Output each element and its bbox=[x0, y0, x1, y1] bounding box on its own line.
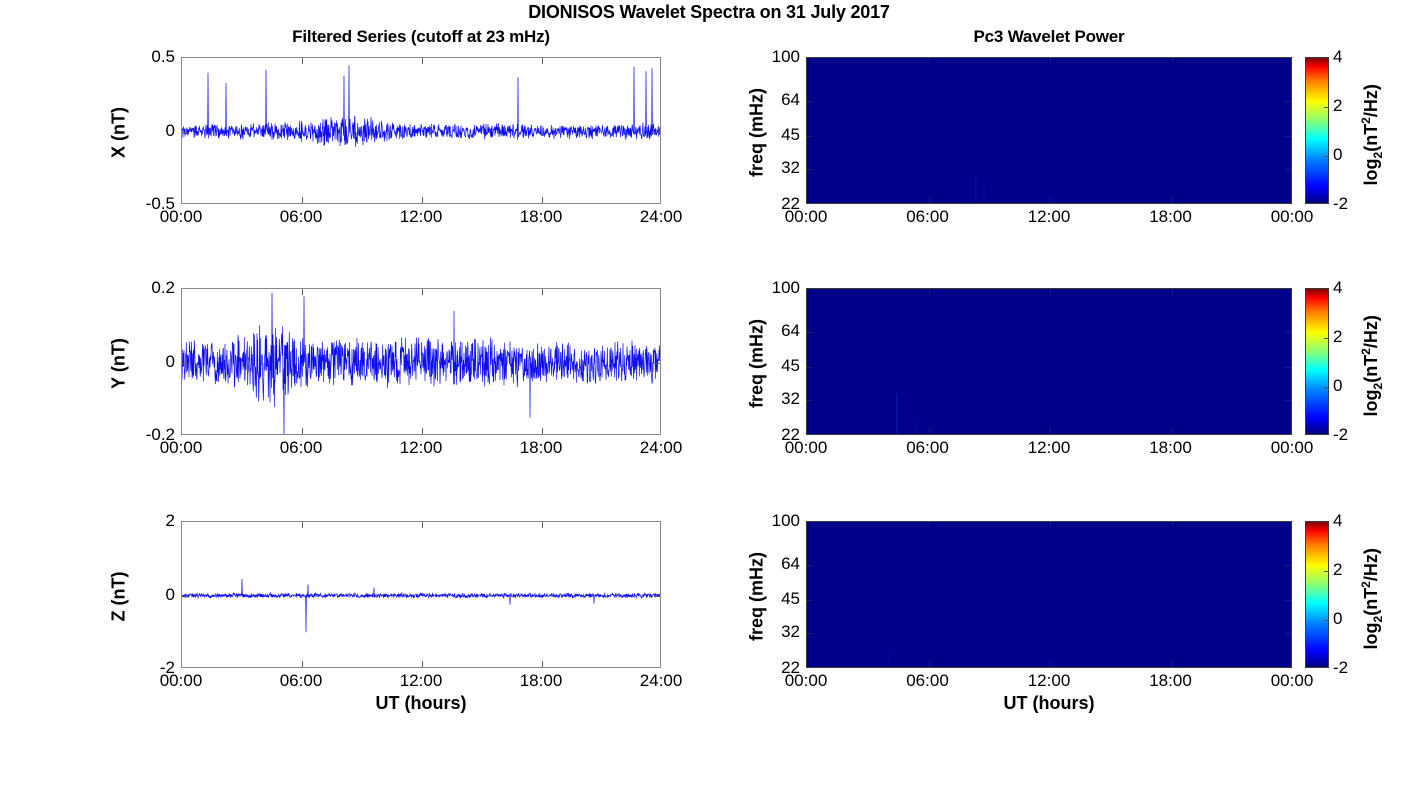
spectrogram-y-ytick-label: 32 bbox=[722, 389, 800, 409]
colorbar-x-label: log2(nT2/Hz) bbox=[1359, 60, 1385, 210]
timeseries-z-trace bbox=[182, 522, 661, 668]
spectrogram-x-image bbox=[807, 58, 1292, 204]
spectrogram-x-ytick bbox=[1285, 101, 1291, 102]
colorbar-label-text: log2(nT2/Hz) bbox=[1361, 84, 1381, 185]
timeseries-x-trace bbox=[182, 58, 661, 204]
spectrogram-x-xtick bbox=[1172, 58, 1173, 64]
colorbar-tick-label: 4 bbox=[1333, 47, 1342, 67]
spectrogram-y-ytick bbox=[807, 367, 813, 368]
timeseries-y-xtick bbox=[422, 289, 423, 295]
timeseries-z-xtick-label: 18:00 bbox=[520, 671, 563, 691]
timeseries-y-trace bbox=[182, 289, 661, 435]
spectrogram-z-ytick-label: 64 bbox=[722, 554, 800, 574]
timeseries-y-xtick-label: 18:00 bbox=[520, 438, 563, 458]
spectrogram-y-xtick-label: 18:00 bbox=[1149, 438, 1192, 458]
spectrogram-x-xtick-label: 06:00 bbox=[906, 207, 949, 227]
colorbar-z-label: log2(nT2/Hz) bbox=[1359, 524, 1385, 674]
spectrogram-x-ytick-label: 45 bbox=[722, 125, 800, 145]
timeseries-y-xtick bbox=[542, 428, 543, 434]
spectrogram-y-xtick-label: 00:00 bbox=[1271, 438, 1314, 458]
colorbar-tick-label: -2 bbox=[1333, 658, 1348, 678]
timeseries-x-ytick-label: -0.5 bbox=[97, 194, 175, 214]
spectrogram-y-ytick bbox=[807, 332, 813, 333]
spectrogram-z-xtick bbox=[1172, 661, 1173, 667]
timeseries-y-xtick bbox=[422, 428, 423, 434]
spectrogram-x-xtick bbox=[1050, 197, 1051, 203]
spectrogram-y-xtick-label: 06:00 bbox=[906, 438, 949, 458]
spectrogram-z-xtick bbox=[929, 522, 930, 528]
spectrogram-z-ytick bbox=[1285, 633, 1291, 634]
spectrogram-z-ytick bbox=[807, 565, 813, 566]
timeseries-x-panel bbox=[181, 57, 661, 204]
spectrogram-y-xtick bbox=[1050, 428, 1051, 434]
timeseries-z-xtick bbox=[302, 661, 303, 667]
colorbar-y bbox=[1305, 288, 1329, 435]
timeseries-z-xtick-label: 24:00 bbox=[640, 671, 683, 691]
spectrogram-x-xtick-label: 00:00 bbox=[1271, 207, 1314, 227]
spectrogram-z-image bbox=[807, 522, 1292, 668]
timeseries-x-ytick bbox=[654, 132, 660, 133]
timeseries-y-ytick-label: 0.2 bbox=[97, 278, 175, 298]
spectrogram-z-ytick bbox=[807, 633, 813, 634]
spectrogram-x-ytick-label: 64 bbox=[722, 90, 800, 110]
timeseries-z-xtick-label: 06:00 bbox=[280, 671, 323, 691]
timeseries-y-panel bbox=[181, 288, 661, 435]
colorbar-label-text: log2(nT2/Hz) bbox=[1361, 315, 1381, 416]
colorbar-tick-label: 0 bbox=[1333, 145, 1342, 165]
spectrogram-x-ytick bbox=[807, 136, 813, 137]
timeseries-z-xtick bbox=[542, 661, 543, 667]
timeseries-z-ytick-label: 0 bbox=[97, 585, 175, 605]
spectrogram-x-xtick bbox=[1172, 197, 1173, 203]
spectrogram-z-ytick bbox=[807, 600, 813, 601]
spectrogram-z-ytick bbox=[1285, 565, 1291, 566]
spectrogram-z-xtick bbox=[929, 661, 930, 667]
timeseries-x-xtick-label: 06:00 bbox=[280, 207, 323, 227]
spectrogram-x-xtick-label: 12:00 bbox=[1028, 207, 1071, 227]
spectrogram-y-ytick bbox=[807, 400, 813, 401]
spectrogram-y-ytick-label: 22 bbox=[722, 425, 800, 445]
spectrogram-y-xtick bbox=[1172, 289, 1173, 295]
timeseries-z-ytick bbox=[182, 596, 188, 597]
timeseries-x-xtick bbox=[302, 58, 303, 64]
timeseries-x-ytick-label: 0 bbox=[97, 121, 175, 141]
timeseries-z-xtick bbox=[302, 522, 303, 528]
timeseries-x-xtick bbox=[422, 58, 423, 64]
timeseries-x-ytick bbox=[182, 132, 188, 133]
spectrogram-z-xtick-label: 06:00 bbox=[906, 671, 949, 691]
spectrogram-x-xtick bbox=[929, 197, 930, 203]
timeseries-z-panel bbox=[181, 521, 661, 668]
spectrogram-y-xtick bbox=[1050, 289, 1051, 295]
colorbar-tick-label: 2 bbox=[1333, 96, 1342, 116]
timeseries-y-ytick bbox=[654, 363, 660, 364]
timeseries-y-ytick-label: 0 bbox=[97, 352, 175, 372]
spectrogram-y-ytick-label: 64 bbox=[722, 321, 800, 341]
colorbar-tick-label: 4 bbox=[1333, 278, 1342, 298]
spectrogram-y-xtick bbox=[929, 428, 930, 434]
timeseries-y-xtick-label: 24:00 bbox=[640, 438, 683, 458]
timeseries-y-xtick-label: 06:00 bbox=[280, 438, 323, 458]
spectrogram-z-xtick-label: 00:00 bbox=[1271, 671, 1314, 691]
spectrogram-y-image bbox=[807, 289, 1292, 435]
timeseries-z-ytick-label: -2 bbox=[97, 658, 175, 678]
spectrogram-y-ytick-label: 100 bbox=[722, 278, 800, 298]
colorbar-tick-label: 2 bbox=[1333, 560, 1342, 580]
timeseries-x-xtick-label: 24:00 bbox=[640, 207, 683, 227]
timeseries-y-xtick-label: 12:00 bbox=[400, 438, 443, 458]
figure-title: DIONISOS Wavelet Spectra on 31 July 2017 bbox=[0, 2, 1418, 23]
colorbar-tick bbox=[1324, 107, 1328, 108]
spectrogram-x-ytick bbox=[807, 169, 813, 170]
colorbar-tick bbox=[1324, 338, 1328, 339]
timeseries-y-ytick bbox=[182, 363, 188, 364]
timeseries-x-xtick bbox=[542, 197, 543, 203]
timeseries-z-xtick-label: 12:00 bbox=[400, 671, 443, 691]
timeseries-x-xtick-label: 18:00 bbox=[520, 207, 563, 227]
spectrogram-x-ytick bbox=[1285, 136, 1291, 137]
timeseries-z-xtick bbox=[422, 661, 423, 667]
colorbar-tick bbox=[1324, 156, 1328, 157]
timeseries-x-xtick bbox=[542, 58, 543, 64]
spectrogram-z-ytick-label: 32 bbox=[722, 622, 800, 642]
spectrogram-x-ytick-label: 22 bbox=[722, 194, 800, 214]
spectrogram-x-ytick bbox=[807, 101, 813, 102]
timeseries-x-xtick-label: 12:00 bbox=[400, 207, 443, 227]
colorbar-y-label: log2(nT2/Hz) bbox=[1359, 291, 1385, 441]
spectrogram-z-panel bbox=[806, 521, 1292, 668]
timeseries-xlabel: UT (hours) bbox=[181, 693, 661, 714]
colorbar-x bbox=[1305, 57, 1329, 204]
timeseries-y-ytick-label: -0.2 bbox=[97, 425, 175, 445]
colorbar-tick-label: 0 bbox=[1333, 376, 1342, 396]
spectrogram-y-xtick bbox=[1172, 428, 1173, 434]
spectrogram-y-xtick bbox=[929, 289, 930, 295]
spectrogram-x-xtick-label: 18:00 bbox=[1149, 207, 1192, 227]
spectrogram-z-xtick bbox=[1172, 522, 1173, 528]
timeseries-z-ytick-label: 2 bbox=[97, 511, 175, 531]
colorbar-tick bbox=[1324, 571, 1328, 572]
colorbar-z bbox=[1305, 521, 1329, 668]
colorbar-label-text: log2(nT2/Hz) bbox=[1361, 548, 1381, 649]
timeseries-y-xtick bbox=[302, 289, 303, 295]
spectrogram-y-panel bbox=[806, 288, 1292, 435]
spectrogram-z-ytick-label: 22 bbox=[722, 658, 800, 678]
timeseries-x-xtick bbox=[302, 197, 303, 203]
timeseries-y-xtick bbox=[542, 289, 543, 295]
right-column-title: Pc3 Wavelet Power bbox=[806, 27, 1292, 47]
spectrogram-y-xtick-label: 12:00 bbox=[1028, 438, 1071, 458]
timeseries-z-xtick bbox=[422, 522, 423, 528]
spectrogram-x-ytick bbox=[1285, 169, 1291, 170]
spectrogram-y-ytick bbox=[1285, 332, 1291, 333]
spectrogram-z-xtick bbox=[1050, 661, 1051, 667]
timeseries-x-xtick bbox=[422, 197, 423, 203]
spectrogram-y-ytick-label: 45 bbox=[722, 356, 800, 376]
timeseries-z-ytick bbox=[654, 596, 660, 597]
timeseries-y-xtick bbox=[302, 428, 303, 434]
spectrogram-x-panel bbox=[806, 57, 1292, 204]
spectrogram-z-ytick-label: 100 bbox=[722, 511, 800, 531]
spectrogram-y-ytick bbox=[1285, 367, 1291, 368]
timeseries-z-xtick bbox=[542, 522, 543, 528]
left-column-title: Filtered Series (cutoff at 23 mHz) bbox=[181, 27, 661, 47]
colorbar-tick bbox=[1324, 387, 1328, 388]
colorbar-tick-label: 4 bbox=[1333, 511, 1342, 531]
spectrogram-z-ytick bbox=[1285, 600, 1291, 601]
colorbar-tick-label: -2 bbox=[1333, 425, 1348, 445]
spectrogram-x-ytick-label: 32 bbox=[722, 158, 800, 178]
spectrogram-z-xtick-label: 12:00 bbox=[1028, 671, 1071, 691]
timeseries-x-ytick-label: 0.5 bbox=[97, 47, 175, 67]
spectrogram-z-ytick-label: 45 bbox=[722, 589, 800, 609]
spectrogram-x-xtick bbox=[1050, 58, 1051, 64]
spectrogram-x-xtick bbox=[929, 58, 930, 64]
spectrogram-xlabel: UT (hours) bbox=[806, 693, 1292, 714]
spectrogram-y-ytick bbox=[1285, 400, 1291, 401]
spectrogram-z-xtick bbox=[1050, 522, 1051, 528]
spectrogram-x-ytick-label: 100 bbox=[722, 47, 800, 67]
colorbar-tick-label: -2 bbox=[1333, 194, 1348, 214]
colorbar-tick bbox=[1324, 620, 1328, 621]
spectrogram-z-xtick-label: 18:00 bbox=[1149, 671, 1192, 691]
colorbar-tick-label: 0 bbox=[1333, 609, 1342, 629]
colorbar-tick-label: 2 bbox=[1333, 327, 1342, 347]
